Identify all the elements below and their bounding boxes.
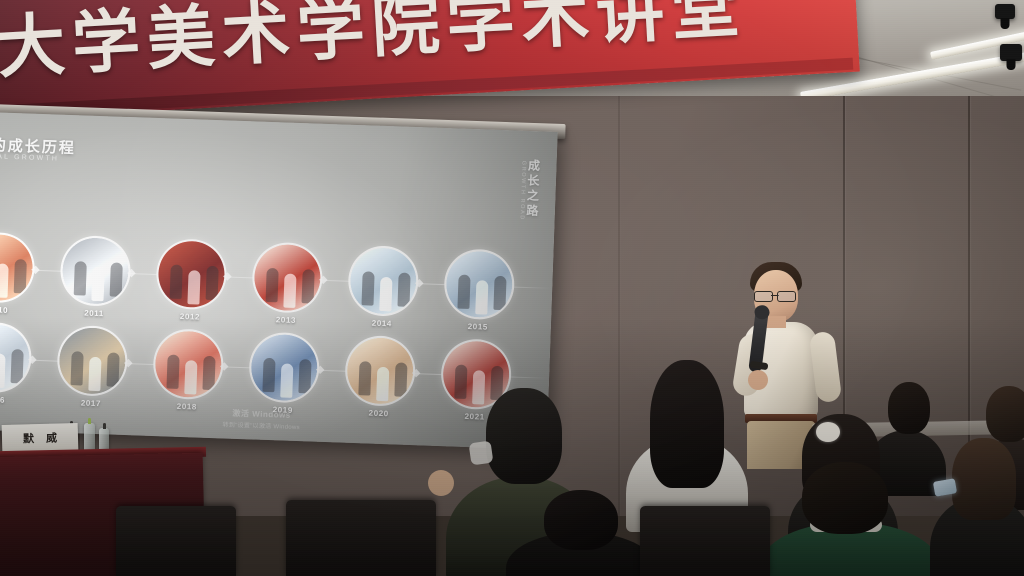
water-bottle [84,423,95,452]
timeline-item: 2013 [249,241,326,326]
timeline-photo [152,328,224,400]
chair [286,500,436,576]
timeline-item: 2019 [246,331,323,416]
timeline-item: 2012 [153,238,230,323]
photo-figures [346,337,414,405]
timeline-photo [0,321,33,393]
timeline-photo [0,231,36,303]
timeline-photo [248,331,320,403]
attendee-head [986,386,1024,442]
timeline-photo [59,235,131,307]
hair-scrunchie-icon [816,422,840,442]
timeline-item: 2010 [0,231,38,316]
timeline-item: 2014 [345,245,422,330]
timeline-photo [251,241,323,313]
windows-activation-watermark: 激活 Windows 转到"设置"以激活 Windows [222,407,300,431]
attendee-hair [650,360,724,488]
attendee-foreground-left [506,498,656,576]
photo-figures [253,243,321,311]
timeline-photo [347,245,419,317]
slide-vertical-title: 成长之路 [524,159,543,220]
timeline-year-label: 2020 [342,408,416,420]
attendee-head [486,388,562,484]
timeline-item: 2020 [342,335,419,420]
photo-figures [349,247,417,315]
chair [116,506,236,576]
photo-figures [250,333,318,401]
timeline-photo [56,325,128,397]
photo-figures [61,237,129,305]
timeline-item: 2017 [54,325,131,410]
attendee-head [544,490,618,550]
timeline-photo [155,238,227,310]
attendee-hand [428,470,454,496]
watermark-line-2: 转到"设置"以激活 Windows [222,419,300,431]
lecture-hall-photo: 大学美术学院学术讲堂 个人的成长历程 PERSONAL GROWTH 成长之路 … [0,0,1024,576]
timeline-item: 2018 [150,328,227,413]
presenter-neck [766,316,786,328]
photo-figures [0,323,31,391]
timeline-item: 2015 [441,248,518,333]
spotlight-icon [995,4,1015,19]
photo-figures [0,233,34,301]
photo-figures [154,330,222,398]
attendee-green-sweater [760,468,940,576]
timeline-item: 2016 [0,321,35,406]
glasses-icon [753,291,797,300]
timeline-photo [344,335,416,407]
photo-figures [445,250,513,318]
placard-char-1: 默 [23,430,34,446]
timeline-year-label: 2016 [0,394,32,406]
chair [640,506,770,576]
spotlight-icon [1000,44,1022,61]
timeline-item: 2011 [57,235,134,320]
timeline-year-label: 2017 [54,398,128,410]
wall-seam [618,96,620,516]
attendee-with-phone [930,452,1024,576]
timeline-year-label: 2018 [150,401,224,413]
photo-figures [157,240,225,308]
timeline-photo [443,248,515,320]
name-placard: 默 威 [2,423,79,453]
placard-char-2: 威 [46,430,57,446]
photo-figures [58,327,126,395]
attendee-hair [952,438,1016,520]
face-mask-icon [469,441,494,466]
attendee-head [802,462,888,534]
